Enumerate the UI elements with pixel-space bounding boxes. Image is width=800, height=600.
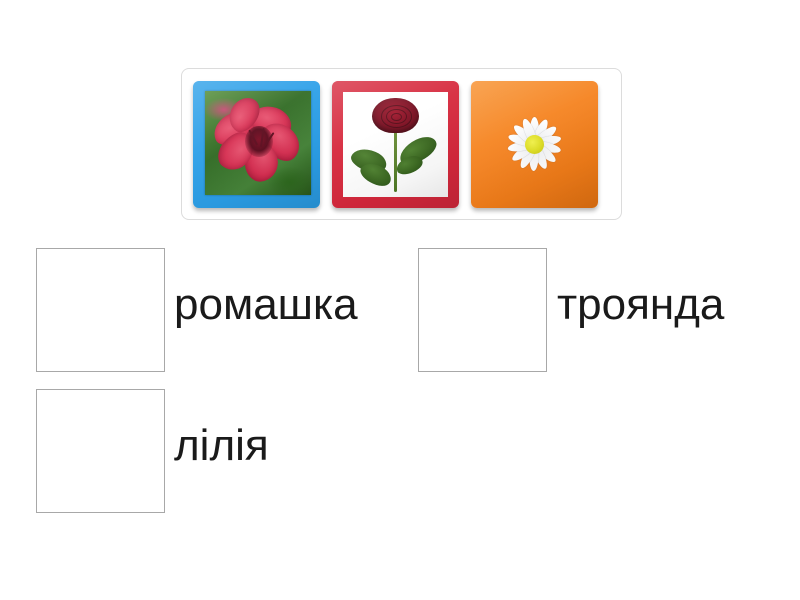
word-label-romashka: ромашка	[174, 283, 358, 327]
rose-bloom	[372, 98, 418, 134]
drop-box-romashka[interactable]	[36, 248, 165, 372]
image-card-lily[interactable]	[193, 81, 320, 208]
image-card-rose[interactable]	[332, 81, 459, 208]
daisy-flower	[504, 113, 566, 175]
word-label-liliya: лілія	[174, 424, 269, 468]
drop-box-liliya[interactable]	[36, 389, 165, 513]
rose-stem	[394, 123, 397, 192]
word-label-troyanda: троянда	[557, 283, 724, 327]
image-card-tray	[181, 68, 622, 220]
drop-box-troyanda[interactable]	[418, 248, 547, 372]
daisy-center	[525, 135, 544, 154]
rose-photo	[343, 92, 448, 197]
image-card-daisy[interactable]	[471, 81, 598, 208]
lily-photo	[205, 91, 311, 195]
